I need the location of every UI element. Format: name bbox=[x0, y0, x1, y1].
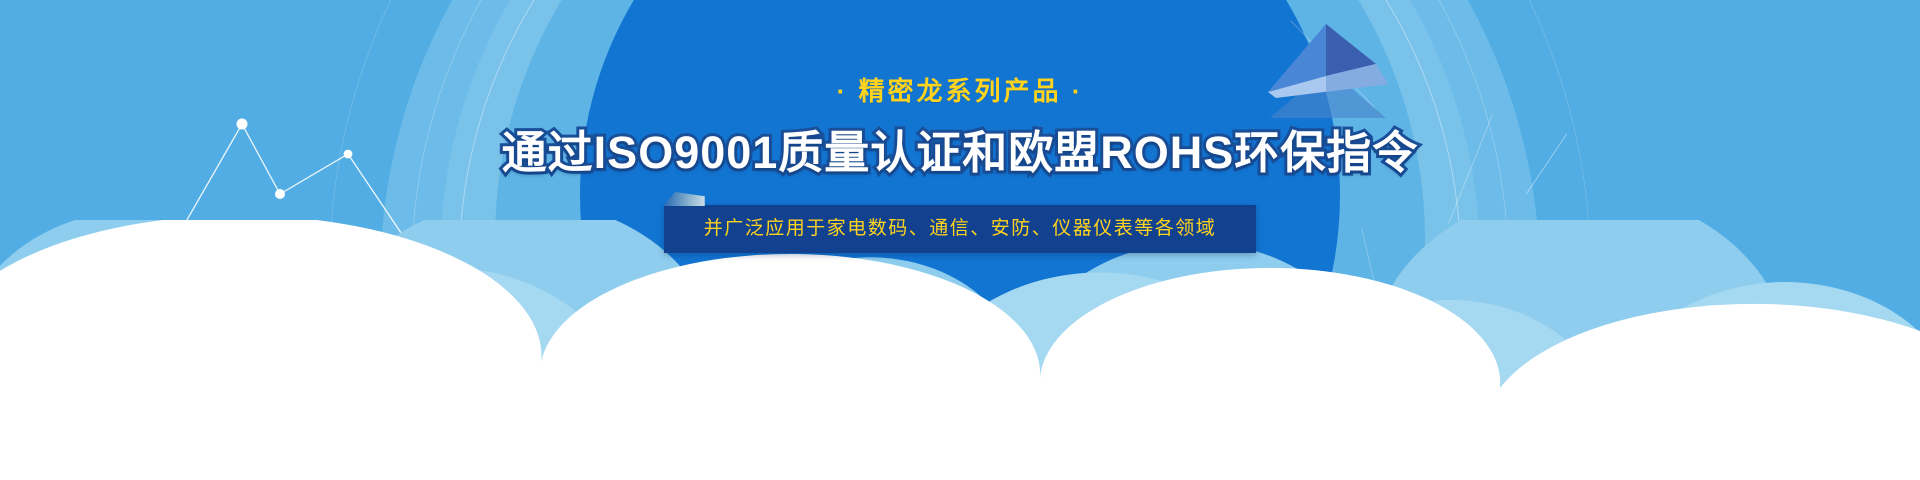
headline-text: 通过ISO9001质量认证和欧盟ROHS环保指令 bbox=[502, 130, 1419, 175]
eyebrow-text: · 精密龙系列产品 · bbox=[837, 78, 1084, 104]
banner-content: · 精密龙系列产品 · 通过ISO9001质量认证和欧盟ROHS环保指令 并广泛… bbox=[0, 0, 1920, 480]
subtitle-bar: 并广泛应用于家电数码、通信、安防、仪器仪表等各领域 bbox=[664, 205, 1257, 253]
folded-corner-tab bbox=[663, 192, 705, 206]
subtitle-text: 并广泛应用于家电数码、通信、安防、仪器仪表等各领域 bbox=[704, 218, 1217, 239]
promo-banner: · 精密龙系列产品 · 通过ISO9001质量认证和欧盟ROHS环保指令 并广泛… bbox=[0, 0, 1920, 480]
